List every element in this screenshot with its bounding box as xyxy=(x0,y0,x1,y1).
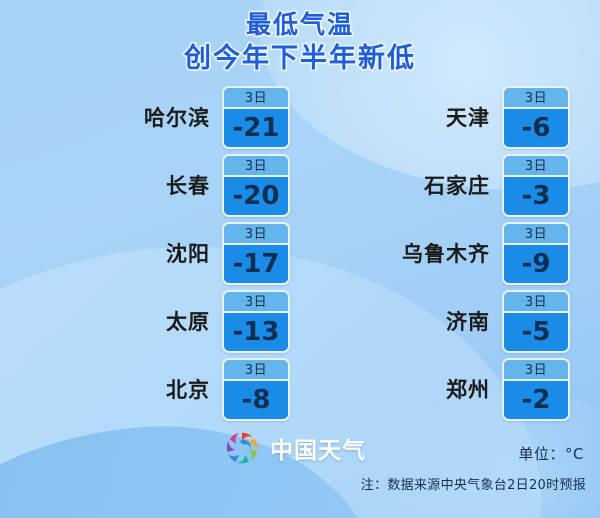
city-row: 长春 3日 -20 xyxy=(40,151,290,219)
city-row: 石家庄 3日 -3 xyxy=(320,151,570,219)
city-row: 天津 3日 -6 xyxy=(320,83,570,151)
city-row: 郑州 3日 -2 xyxy=(320,355,570,423)
city-columns: 哈尔滨 3日 -21 长春 3日 -20 沈阳 3日 -17 xyxy=(0,83,600,423)
brand-logo: 中国天气 xyxy=(222,428,366,468)
city-row: 乌鲁木齐 3日 -9 xyxy=(320,219,570,287)
card-temp-value: -21 xyxy=(224,109,288,147)
city-row: 太原 3日 -13 xyxy=(40,287,290,355)
card-temp-value: -17 xyxy=(224,245,288,283)
temperature-card: 3日 -21 xyxy=(222,86,290,149)
city-label: 哈尔滨 xyxy=(40,102,210,132)
card-temp-value: -3 xyxy=(504,177,568,215)
card-day-label: 3日 xyxy=(224,224,288,245)
temperature-card: 3日 -3 xyxy=(502,154,570,217)
weather-infographic: 最低气温 创今年下半年新低 哈尔滨 3日 -21 长春 3日 -20 沈阳 xyxy=(0,0,600,518)
city-label: 长春 xyxy=(40,170,210,200)
city-label: 济南 xyxy=(320,306,490,336)
temperature-card: 3日 -5 xyxy=(502,290,570,353)
city-label: 石家庄 xyxy=(320,170,490,200)
temperature-card: 3日 -6 xyxy=(502,86,570,149)
card-day-label: 3日 xyxy=(504,360,568,381)
city-row: 济南 3日 -5 xyxy=(320,287,570,355)
title-block: 最低气温 创今年下半年新低 xyxy=(0,10,600,74)
city-label: 北京 xyxy=(40,374,210,404)
card-temp-value: -20 xyxy=(224,177,288,215)
city-column-left: 哈尔滨 3日 -21 长春 3日 -20 沈阳 3日 -17 xyxy=(40,83,290,423)
temperature-card: 3日 -13 xyxy=(222,290,290,353)
card-temp-value: -5 xyxy=(504,313,568,351)
source-note: 注：数据来源中央气象台2日20时预报 xyxy=(361,474,586,493)
card-day-label: 3日 xyxy=(224,292,288,313)
card-temp-value: -13 xyxy=(224,313,288,351)
temperature-card: 3日 -2 xyxy=(502,358,570,421)
card-day-label: 3日 xyxy=(224,360,288,381)
weather-spiral-logo-icon xyxy=(222,428,262,468)
city-label: 天津 xyxy=(320,102,490,132)
card-day-label: 3日 xyxy=(224,88,288,109)
city-label: 太原 xyxy=(40,306,210,336)
title-line-2: 创今年下半年新低 xyxy=(0,43,600,75)
city-label: 乌鲁木齐 xyxy=(320,238,490,268)
city-label: 郑州 xyxy=(320,374,490,404)
temperature-card: 3日 -9 xyxy=(502,222,570,285)
card-day-label: 3日 xyxy=(504,224,568,245)
city-column-right: 天津 3日 -6 石家庄 3日 -3 乌鲁木齐 3日 -9 xyxy=(320,83,570,423)
city-row: 哈尔滨 3日 -21 xyxy=(40,83,290,151)
card-day-label: 3日 xyxy=(504,88,568,109)
card-day-label: 3日 xyxy=(504,292,568,313)
temperature-card: 3日 -17 xyxy=(222,222,290,285)
title-line-1: 最低气温 xyxy=(0,10,600,40)
city-label: 沈阳 xyxy=(40,238,210,268)
card-day-label: 3日 xyxy=(504,156,568,177)
brand-logo-text: 中国天气 xyxy=(270,431,366,465)
temperature-card: 3日 -8 xyxy=(222,358,290,421)
card-day-label: 3日 xyxy=(224,156,288,177)
card-temp-value: -6 xyxy=(504,109,568,147)
card-temp-value: -2 xyxy=(504,381,568,419)
card-temp-value: -8 xyxy=(224,381,288,419)
city-row: 沈阳 3日 -17 xyxy=(40,219,290,287)
card-temp-value: -9 xyxy=(504,245,568,283)
temperature-card: 3日 -20 xyxy=(222,154,290,217)
city-row: 北京 3日 -8 xyxy=(40,355,290,423)
unit-label: 单位：°C xyxy=(519,443,584,464)
